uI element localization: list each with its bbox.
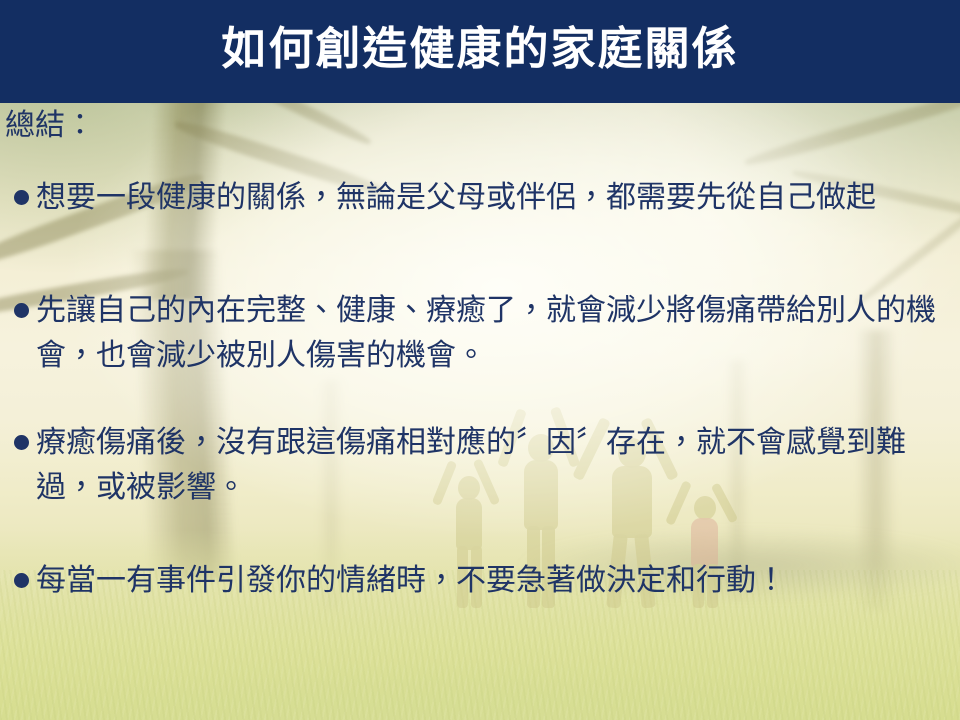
list-item-text: 想要一段健康的關係，無論是父母或伴侶，都需要先從自己做起 (36, 175, 960, 220)
list-item: 療癒傷痛後，沒有跟這傷痛相對應的〞因〞存在，就不會感覺到難過，或被影響。 (8, 420, 960, 510)
title-bar: 如何創造健康的家庭關係 (0, 0, 960, 103)
list-item-text: 先讓自己的內在完整、健康、療癒了，就會減少將傷痛帶給別人的機會，也會減少被別人傷… (36, 288, 960, 378)
summary-label: 總結： (5, 107, 95, 145)
list-item: 先讓自己的內在完整、健康、療癒了，就會減少將傷痛帶給別人的機會，也會減少被別人傷… (8, 288, 960, 378)
slide-body: 總結： 想要一段健康的關係，無論是父母或伴侶，都需要先從自己做起 先讓自己的內在… (0, 103, 960, 720)
list-item: 想要一段健康的關係，無論是父母或伴侶，都需要先從自己做起 (8, 175, 960, 220)
bullet-list: 想要一段健康的關係，無論是父母或伴侶，都需要先從自己做起 先讓自己的內在完整、健… (0, 175, 960, 647)
page-title: 如何創造健康的家庭關係 (0, 21, 960, 77)
bullet-dot-icon (14, 190, 29, 205)
list-item-text: 每當一有事件引發你的情緒時，不要急著做決定和行動！ (36, 558, 960, 603)
list-item: 每當一有事件引發你的情緒時，不要急著做決定和行動！ (8, 558, 960, 603)
slide-canvas: 如何創造健康的家庭關係 總結： 想要一段健康的關係，無論是父母或伴侶，都需要先從… (0, 0, 960, 720)
list-item-text: 療癒傷痛後，沒有跟這傷痛相對應的〞因〞存在，就不會感覺到難過，或被影響。 (36, 420, 960, 510)
bullet-dot-icon (14, 573, 29, 588)
bullet-dot-icon (14, 303, 29, 318)
bullet-dot-icon (14, 435, 29, 450)
